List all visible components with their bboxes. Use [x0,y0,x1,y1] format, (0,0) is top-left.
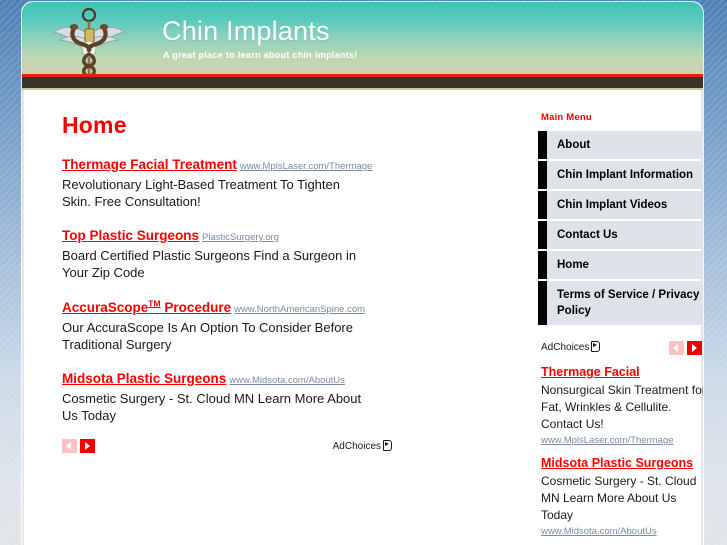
adchoices-triangle-icon [383,440,392,450]
ad-footer: AdChoices [40,438,392,458]
ad-next-arrow-icon[interactable] [687,341,702,355]
content-area: Home Thermage Facial Treatmentwww.MplsLa… [22,90,703,545]
sidebar-ad-url-link[interactable]: www.MplsLaser.com/Thermage [541,435,703,446]
ad-block: Midsota Plastic Surgeonswww.Midsota.com/… [40,370,510,424]
sidebar-ad-headline-link[interactable]: Thermage Facial [541,363,703,381]
content-left-rule [22,90,24,545]
menu-list: About Chin Implant Information Chin Impl… [538,131,703,325]
ad-headline-link[interactable]: AccuraScopeTM Procedure [62,300,231,315]
sidebar-item-contact-us[interactable]: Contact Us [538,221,703,249]
main-column: Home Thermage Facial Treatmentwww.MplsLa… [40,90,510,458]
sidebar-ad-arrows [669,339,703,357]
header-dark-bar [22,77,703,88]
ad-url-link[interactable]: www.MplsLaser.com/Thermage [240,161,373,172]
sidebar-ad-block: Thermage Facial Nonsurgical Skin Treatme… [538,363,703,446]
sidebar: Main Menu About Chin Implant Information… [538,90,703,537]
sidebar-ad-description: Nonsurgical Skin Treatment for Fat, Wrin… [541,382,703,433]
site-title: Chin Implants [162,16,330,47]
adchoices-label: AdChoices [333,441,381,452]
ad-url-link[interactable]: www.NorthAmericanSpine.com [234,304,365,315]
ad-block: Thermage Facial Treatmentwww.MplsLaser.c… [40,156,510,210]
adchoices-triangle-icon [591,341,600,351]
ad-headline-link[interactable]: Thermage Facial Treatment [62,157,237,172]
trademark-symbol: TM [148,298,160,308]
ad-headline-text: AccuraScope [62,300,148,315]
site-tagline: A great place to learn about chin implan… [163,50,358,60]
sidebar-ad-header: AdChoices [538,339,703,355]
sidebar-item-terms-of-service[interactable]: Terms of Service / Privacy Policy [538,281,703,325]
page-title: Home [40,90,510,139]
ad-next-arrow-icon[interactable] [80,439,95,453]
sidebar-item-chin-implant-videos[interactable]: Chin Implant Videos [538,191,703,219]
ad-description: Revolutionary Light-Based Treatment To T… [62,176,372,210]
site-card: Chin Implants A great place to learn abo… [22,2,703,545]
page-background: Chin Implants A great place to learn abo… [0,0,727,545]
sidebar-item-home[interactable]: Home [538,251,703,279]
ad-prev-arrow-icon[interactable] [669,341,684,355]
ad-description: Board Certified Plastic Surgeons Find a … [62,247,372,281]
ad-url-link[interactable]: www.Midsota.com/AboutUs [229,375,345,386]
ad-block: AccuraScopeTM Procedurewww.NorthAmerican… [40,298,510,353]
adchoices-label: AdChoices [541,342,589,353]
ad-headline-link[interactable]: Top Plastic Surgeons [62,228,199,243]
sidebar-ad-headline-link[interactable]: Midsota Plastic Surgeons [541,454,703,472]
menu-title: Main Menu [538,90,703,123]
ad-description: Cosmetic Surgery - St. Cloud MN Learn Mo… [62,390,372,424]
sidebar-ad-url-link[interactable]: www.Midsota.com/AboutUs [541,526,703,537]
ad-prev-arrow-icon[interactable] [62,439,77,453]
sidebar-ad-block: Midsota Plastic Surgeons Cosmetic Surger… [538,454,703,537]
ad-headline-tail: Procedure [161,300,232,315]
sidebar-item-chin-implant-information[interactable]: Chin Implant Information [538,161,703,189]
sidebar-item-about[interactable]: About [538,131,703,159]
sidebar-ad-description: Cosmetic Surgery - St. Cloud MN Learn Mo… [541,473,703,524]
ad-headline-link[interactable]: Midsota Plastic Surgeons [62,371,226,386]
adchoices-link[interactable]: AdChoices [541,341,600,353]
ad-description: Our AccuraScope Is An Option To Consider… [62,319,372,353]
ad-url-link[interactable]: PlasticSurgery.org [202,232,279,243]
adchoices-link[interactable]: AdChoices [333,440,392,452]
site-header: Chin Implants A great place to learn abo… [22,2,703,90]
ad-block: Top Plastic SurgeonsPlasticSurgery.org B… [40,227,510,281]
